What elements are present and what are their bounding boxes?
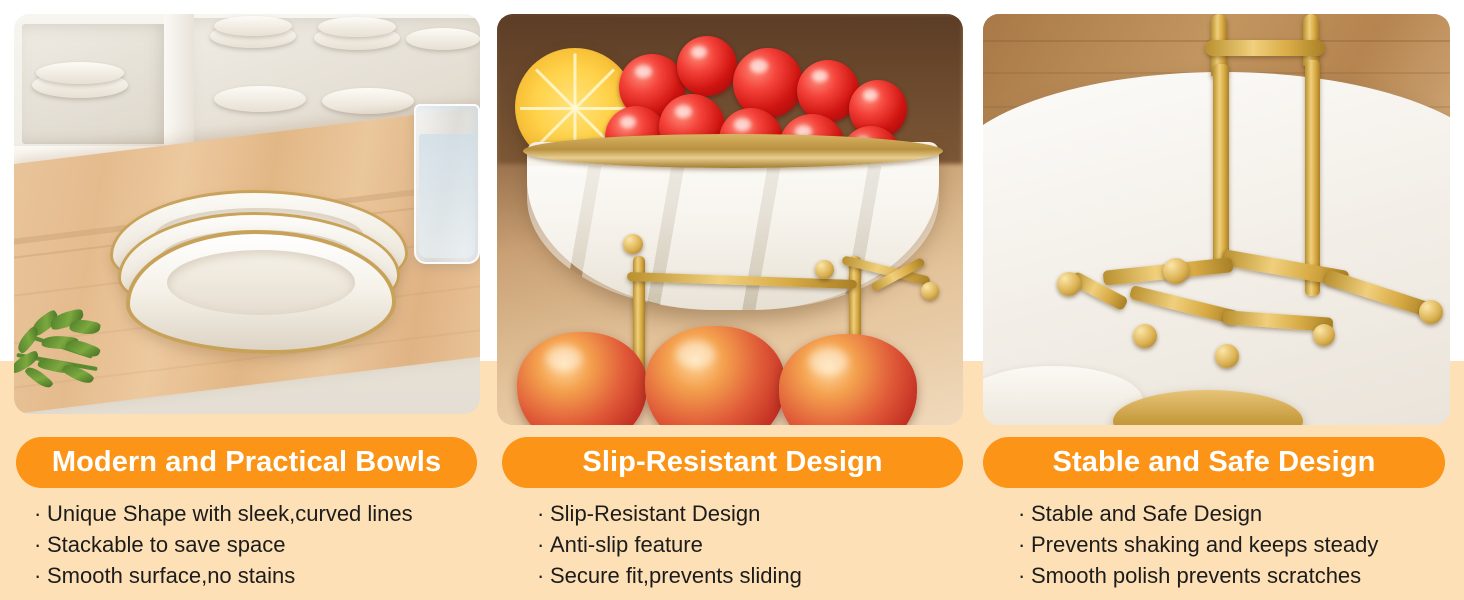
gold-ball-finial (815, 260, 834, 279)
bullet-text: Smooth polish prevents scratches (1031, 560, 1361, 591)
panel-2-bullet-list: · Slip-Resistant Design · Anti-slip feat… (537, 498, 802, 591)
bullet-text: Stackable to save space (47, 529, 285, 560)
bullet-text: Anti-slip feature (550, 529, 703, 560)
feature-panel-row: Modern and Practical Bowls · Unique Shap… (0, 0, 1464, 600)
gold-ball-finial (921, 282, 939, 300)
rack-ball-foot (1215, 344, 1239, 368)
water-glass (414, 104, 480, 264)
bullet-item: · Stable and Safe Design (1018, 498, 1378, 529)
rack-ball-foot (1313, 324, 1335, 346)
bullet-dot-icon: · (1018, 560, 1031, 591)
bullet-text: Stable and Safe Design (1031, 498, 1262, 529)
panel-1-bullet-list: · Unique Shape with sleek,curved lines ·… (34, 498, 413, 591)
panel-1-title-pill: Modern and Practical Bowls (16, 437, 477, 488)
product-feature-infographic: Modern and Practical Bowls · Unique Shap… (0, 0, 1464, 600)
bullet-dot-icon: · (1018, 529, 1031, 560)
feature-panel-1: Modern and Practical Bowls · Unique Shap… (0, 0, 492, 600)
bullet-item: · Anti-slip feature (537, 529, 802, 560)
feature-panel-3: Stable and Safe Design · Stable and Safe… (978, 0, 1464, 600)
bullet-text: Smooth surface,no stains (47, 560, 295, 591)
rack-ball-foot (1419, 300, 1443, 324)
panel-3-title-pill: Stable and Safe Design (983, 437, 1445, 488)
gold-ball-finial (623, 234, 643, 254)
bullet-dot-icon: · (34, 498, 47, 529)
stacked-gold-rim-bowls-on-wooden-table-photo (14, 14, 480, 414)
panel-2-title: Slip-Resistant Design (582, 446, 882, 479)
bullet-dot-icon: · (34, 529, 47, 560)
gold-bowl-rim (523, 134, 943, 168)
panel-2-title-pill: Slip-Resistant Design (502, 437, 963, 488)
rack-ball-foot (1163, 258, 1189, 284)
bullet-text: Prevents shaking and keeps steady (1031, 529, 1378, 560)
bullet-dot-icon: · (34, 560, 47, 591)
fresh-herbs (14, 310, 120, 396)
bullet-item: · Stackable to save space (34, 529, 413, 560)
cherries-bowl-on-gold-stand-photo (497, 14, 963, 425)
apple (645, 326, 785, 425)
bullet-dot-icon: · (537, 560, 550, 591)
panel-3-title: Stable and Safe Design (1053, 446, 1376, 479)
rack-ball-foot (1057, 272, 1081, 296)
gold-wire-rack-closeup-photo (983, 14, 1450, 425)
rack-top-crossbar (1205, 40, 1325, 56)
bullet-text: Secure fit,prevents sliding (550, 560, 802, 591)
bullet-dot-icon: · (1018, 498, 1031, 529)
apple (779, 334, 917, 425)
panel-3-bullet-list: · Stable and Safe Design · Prevents shak… (1018, 498, 1378, 591)
feature-panel-2: Slip-Resistant Design · Slip-Resistant D… (492, 0, 978, 600)
bullet-item: · Secure fit,prevents sliding (537, 560, 802, 591)
bullet-item: · Smooth polish prevents scratches (1018, 560, 1378, 591)
rack-vertical-post (1305, 60, 1320, 296)
bullet-item: · Slip-Resistant Design (537, 498, 802, 529)
bullet-dot-icon: · (537, 498, 550, 529)
bullet-item: · Unique Shape with sleek,curved lines (34, 498, 413, 529)
panel-1-title: Modern and Practical Bowls (52, 446, 441, 479)
bullet-dot-icon: · (537, 529, 550, 560)
rack-ball-foot (1133, 324, 1157, 348)
bullet-item: · Smooth surface,no stains (34, 560, 413, 591)
apple (517, 332, 647, 425)
bullet-text: Unique Shape with sleek,curved lines (47, 498, 413, 529)
bullet-item: · Prevents shaking and keeps steady (1018, 529, 1378, 560)
rack-vertical-post (1213, 64, 1229, 264)
bullet-text: Slip-Resistant Design (550, 498, 760, 529)
